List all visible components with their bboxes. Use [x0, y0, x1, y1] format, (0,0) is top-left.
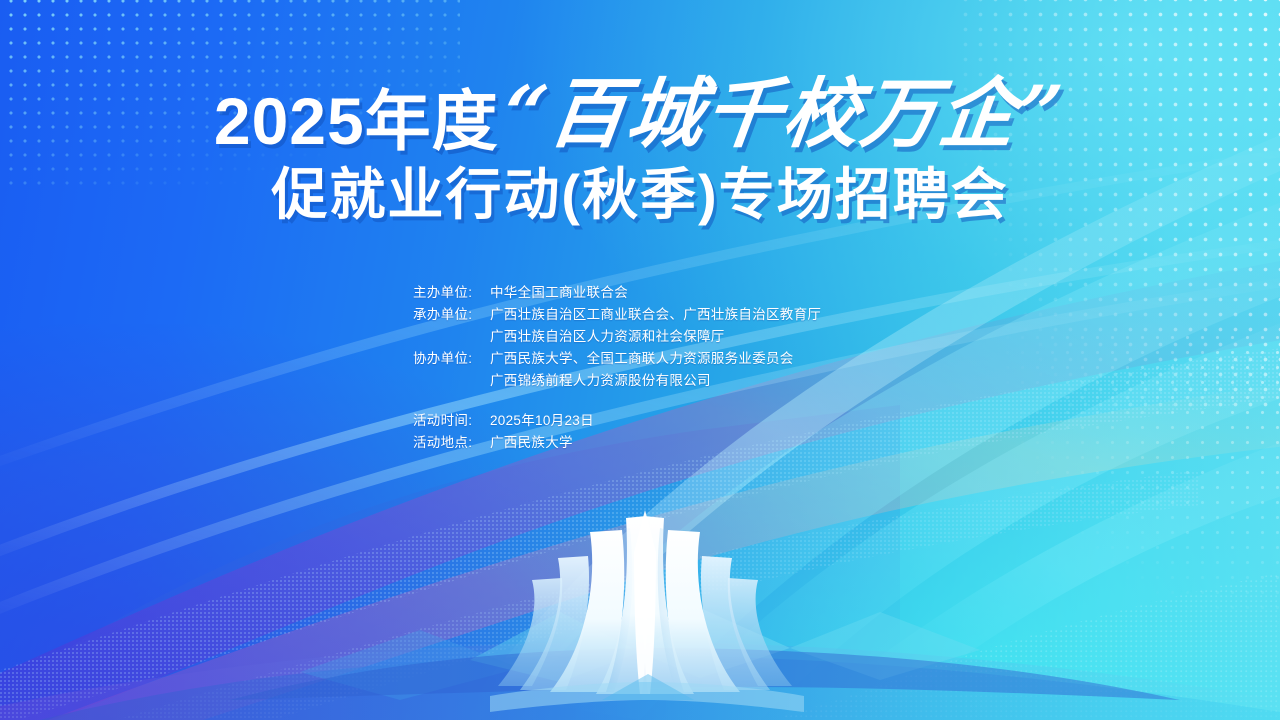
info-row-organizer: 主办单位: 中华全国工商业联合会	[413, 282, 821, 304]
info-label-coorganizer: 协办单位:	[413, 348, 490, 370]
headline-line-1: 2025年度 “百城千校万企”	[0, 62, 1280, 158]
info-row-host: 承办单位: 广西壮族自治区工商业联合会、广西壮族自治区教育厅	[413, 304, 821, 326]
info-value-coorganizer-2: 广西锦绣前程人力资源股份有限公司	[490, 370, 821, 392]
info-value-host-1: 广西壮族自治区工商业联合会、广西壮族自治区教育厅	[490, 304, 821, 326]
info-value-host-2: 广西壮族自治区人力资源和社会保障厅	[490, 326, 821, 348]
info-label-host: 承办单位:	[413, 304, 490, 326]
headline-block: 2025年度 “百城千校万企” 促就业行动(秋季)专场招聘会	[0, 62, 1280, 225]
info-value-venue: 广西民族大学	[490, 432, 573, 454]
headline-year: 2025年度	[214, 88, 499, 154]
info-label-date: 活动时间:	[413, 410, 490, 432]
headline-subtitle: 促就业行动(秋季)专场招聘会	[0, 166, 1280, 225]
info-spacer	[413, 392, 821, 410]
guangxi-minzu-university-building-illustration	[480, 460, 810, 720]
info-value-date: 2025年10月23日	[490, 410, 594, 432]
event-info-block: 主办单位: 中华全国工商业联合会 承办单位: 广西壮族自治区工商业联合会、广西壮…	[413, 282, 821, 454]
poster-canvas: 2025年度 “百城千校万企” 促就业行动(秋季)专场招聘会 主办单位: 中华全…	[0, 0, 1280, 720]
headline-brand-calligraphy: “百城千校万企”	[495, 76, 1072, 152]
info-label-organizer: 主办单位:	[413, 282, 490, 304]
info-row-coorganizer: 协办单位: 广西民族大学、全国工商联人力资源服务业委员会	[413, 348, 821, 370]
info-row-date: 活动时间: 2025年10月23日	[413, 410, 821, 432]
headline-brand-text: 百城千校万企	[544, 69, 1023, 158]
info-label-venue: 活动地点:	[413, 432, 490, 454]
info-value-organizer: 中华全国工商业联合会	[490, 282, 628, 304]
quote-close: ”	[1012, 69, 1069, 158]
info-row-venue: 活动地点: 广西民族大学	[413, 432, 821, 454]
info-value-coorganizer-1: 广西民族大学、全国工商联人力资源服务业委员会	[490, 348, 794, 370]
